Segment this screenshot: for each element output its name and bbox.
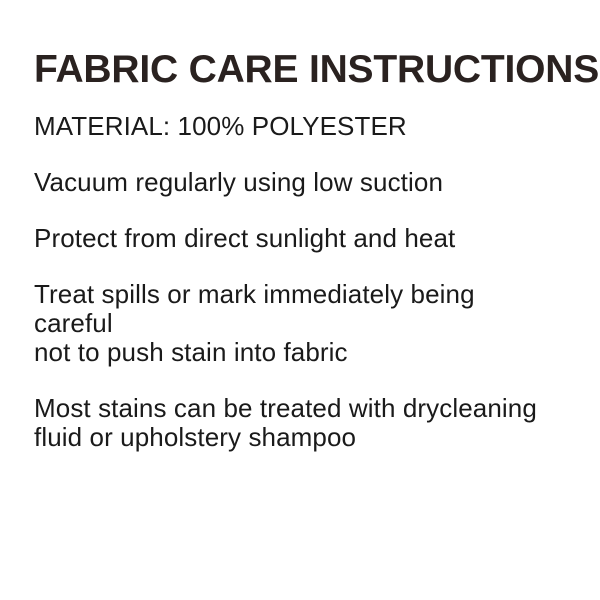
fabric-care-label: FABRIC CARE INSTRUCTIONS MATERIAL: 100% … <box>0 0 600 600</box>
material-composition-line: MATERIAL: 100% POLYESTER <box>34 92 566 141</box>
care-instructions-list: Vacuum regularly using low suction Prote… <box>34 141 566 452</box>
care-instruction-item: Vacuum regularly using low suction <box>34 141 554 197</box>
care-instruction-item: Protect from direct sunlight and heat <box>34 197 554 253</box>
care-instruction-item: Treat spills or mark immediately being c… <box>34 253 554 367</box>
page-title: FABRIC CARE INSTRUCTIONS <box>34 0 566 92</box>
care-instruction-item: Most stains can be treated with dryclean… <box>34 367 554 452</box>
